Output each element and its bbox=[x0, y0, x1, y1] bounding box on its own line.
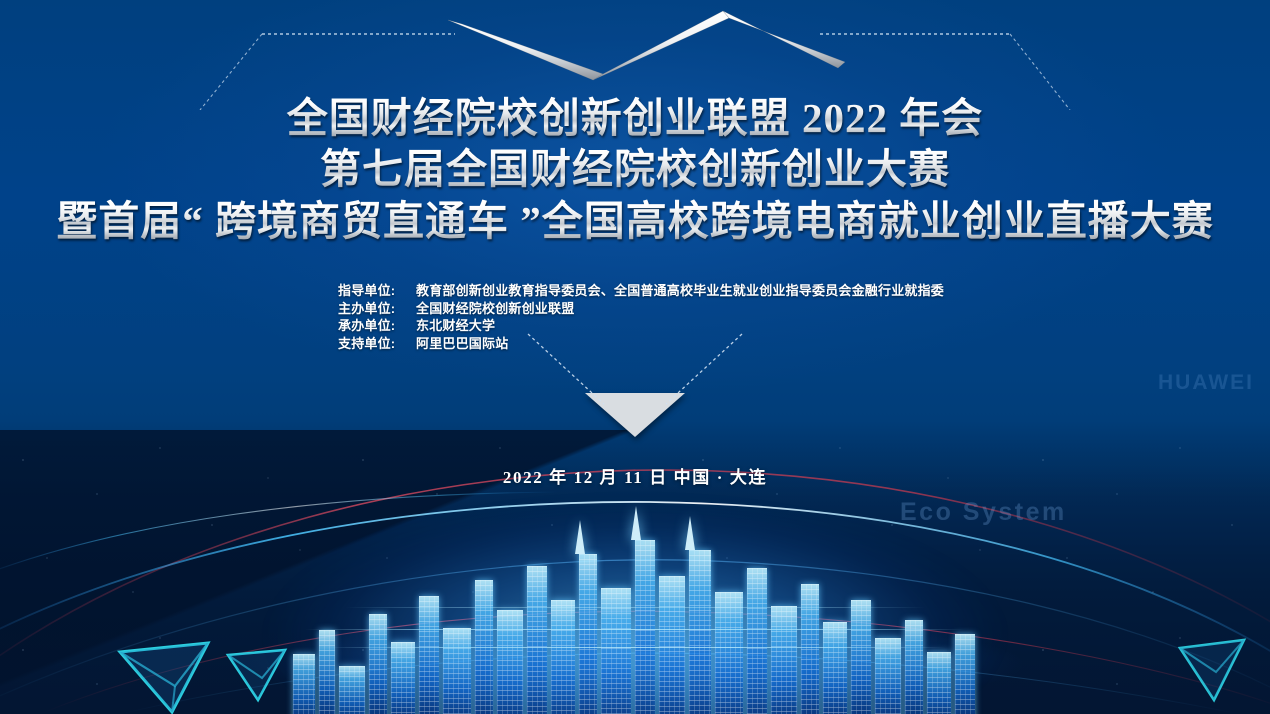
organizer-label: 指导单位: bbox=[338, 282, 416, 300]
organizer-label: 支持单位: bbox=[338, 335, 416, 353]
organizer-row-undertaker: 承办单位: 东北财经大学 bbox=[338, 317, 944, 335]
organizer-value: 阿里巴巴国际站 bbox=[416, 335, 508, 353]
organizer-row-guidance: 指导单位: 教育部创新创业教育指导委员会、全国普通高校毕业生就业创业指导委员会金… bbox=[338, 282, 944, 300]
headline-group: 全国财经院校创新创业联盟 2022 年会 第七届全国财经院校创新创业大赛 暨首届… bbox=[0, 96, 1270, 243]
organizer-label: 主办单位: bbox=[338, 300, 416, 318]
organizer-value: 东北财经大学 bbox=[416, 317, 495, 335]
organizer-label: 承办单位: bbox=[338, 317, 416, 335]
date-location: 2022 年 12 月 11 日 中国 · 大连 bbox=[0, 463, 1270, 488]
organizer-value: 教育部创新创业教育指导委员会、全国普通高校毕业生就业创业指导委员会金融行业就指委 bbox=[416, 282, 944, 300]
title-line-3: 暨首届“ 跨境商贸直通车 ”全国高校跨境电商就业创业直播大赛 bbox=[0, 199, 1270, 243]
organizer-list: 指导单位: 教育部创新创业教育指导委员会、全国普通高校毕业生就业创业指导委员会金… bbox=[338, 282, 944, 352]
title-line-2: 第七届全国财经院校创新创业大赛 bbox=[0, 147, 1270, 191]
organizer-row-supporter: 支持单位: 阿里巴巴国际站 bbox=[338, 335, 944, 353]
down-triangle-icon bbox=[585, 393, 685, 437]
organizer-value: 全国财经院校创新创业联盟 bbox=[416, 300, 574, 318]
title-line-1: 全国财经院校创新创业联盟 2022 年会 bbox=[0, 96, 1270, 140]
organizer-row-host: 主办单位: 全国财经院校创新创业联盟 bbox=[338, 300, 944, 318]
poster-canvas: 全国财经院校创新创业联盟 2022 年会 第七届全国财经院校创新创业大赛 暨首届… bbox=[0, 0, 1270, 714]
